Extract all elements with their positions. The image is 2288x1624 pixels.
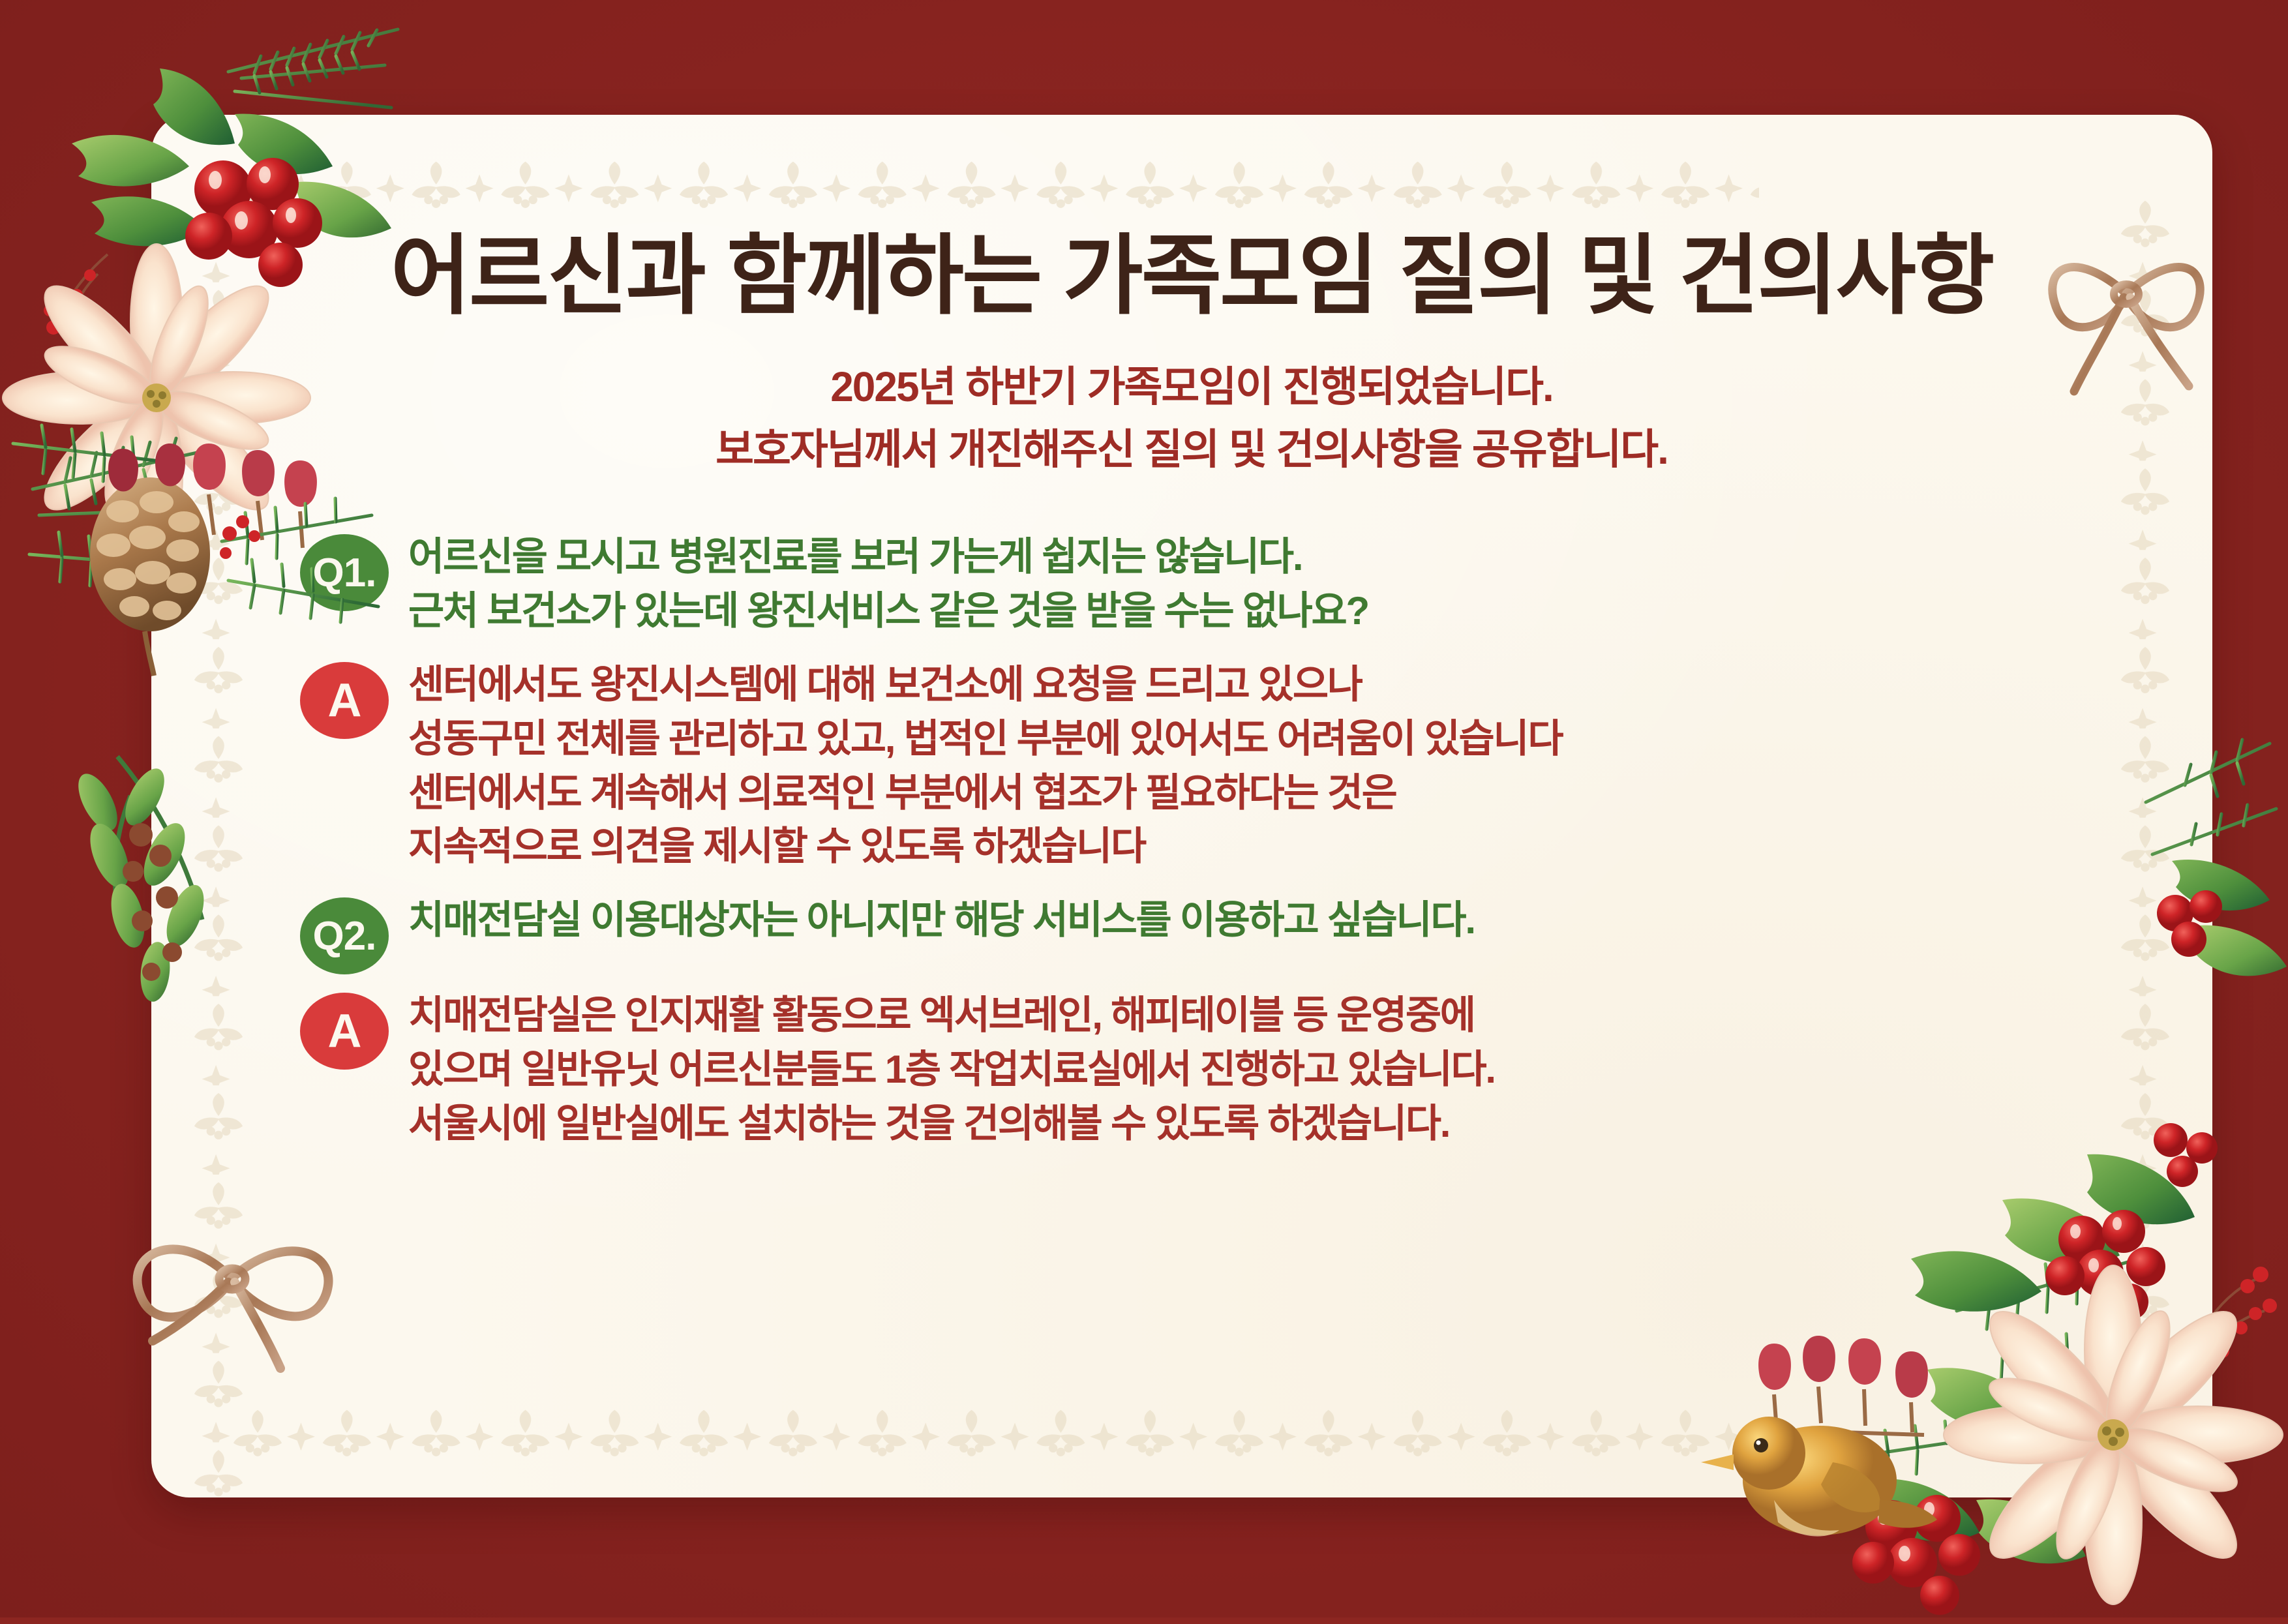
border-pattern-right <box>2117 193 2173 1497</box>
subtitle: 2025년 하반기 가족모임이 진행되었습니다. 보호자님께서 개진해주신 질의… <box>269 355 2115 481</box>
answer-text-a1: 센터에서도 왕진시스템에 대해 보건소에 요청을 드리고 있으나 성동구민 전체… <box>408 655 1562 874</box>
answer-line: 센터에서도 왕진시스템에 대해 보건소에 요청을 드리고 있으나 <box>408 658 1562 712</box>
answer-line: 치매전담실은 인지재활 활동으로 엑서브레인, 해피테이블 등 운영중에 <box>408 989 1495 1043</box>
answer-line: 지속적으로 의견을 제시할 수 있도록 하겠습니다 <box>408 820 1562 874</box>
qa-item-q2: Q2. 치매전담실 이용대상자는 아니지만 해당 서비스를 이용하고 싶습니다. <box>300 891 2115 974</box>
question-line: 치매전담실 이용대상자는 아니지만 해당 서비스를 이용하고 싶습니다. <box>408 894 1475 948</box>
border-pattern-bottom <box>230 1402 1759 1458</box>
answer-line: 성동구민 전체를 관리하고 있고, 법적인 부분에 있어서도 어려움이 있습니다 <box>408 712 1562 766</box>
answer-line: 센터에서도 계속해서 의료적인 부분에서 협조가 필요하다는 것은 <box>408 766 1562 820</box>
qa-item-a2: A 치매전담실은 인지재활 활동으로 엑서브레인, 해피테이블 등 운영중에 있… <box>300 986 2115 1150</box>
answer-line: 있으며 일반유닛 어르신분들도 1층 작업치료실에서 진행하고 있습니다. <box>408 1043 1495 1097</box>
card-content: 어르신과 함께하는 가족모임 질의 및 건의사항 2025년 하반기 가족모임이… <box>269 193 2115 1168</box>
question-badge-q1: Q1. <box>300 534 389 611</box>
question-text-q1: 어르신을 모시고 병원진료를 보러 가는게 쉽지는 않습니다. 근처 보건소가 … <box>408 528 1368 639</box>
border-pattern-left <box>190 193 247 1497</box>
subtitle-line-1: 2025년 하반기 가족모임이 진행되었습니다. <box>269 355 2115 418</box>
answer-badge-a1: A <box>300 662 389 739</box>
qa-item-a1: A 센터에서도 왕진시스템에 대해 보건소에 요청을 드리고 있으나 성동구민 … <box>300 655 2115 874</box>
question-line: 근처 보건소가 있는데 왕진서비스 같은 것을 받을 수는 없나요? <box>408 584 1368 639</box>
qa-item-q1: Q1. 어르신을 모시고 병원진료를 보러 가는게 쉽지는 않습니다. 근처 보… <box>300 528 2115 639</box>
answer-badge-a2: A <box>300 993 389 1070</box>
announcement-card: 어르신과 함께하는 가족모임 질의 및 건의사항 2025년 하반기 가족모임이… <box>151 115 2212 1497</box>
qa-list: Q1. 어르신을 모시고 병원진료를 보러 가는게 쉽지는 않습니다. 근처 보… <box>269 528 2115 1150</box>
page-title: 어르신과 함께하는 가족모임 질의 및 건의사항 <box>269 226 2115 327</box>
answer-text-a2: 치매전담실은 인지재활 활동으로 엑서브레인, 해피테이블 등 운영중에 있으며… <box>408 986 1495 1150</box>
subtitle-line-2: 보호자님께서 개진해주신 질의 및 건의사항을 공유합니다. <box>269 418 2115 481</box>
question-badge-q2: Q2. <box>300 897 389 974</box>
question-text-q2: 치매전담실 이용대상자는 아니지만 해당 서비스를 이용하고 싶습니다. <box>408 891 1475 948</box>
answer-line: 서울시에 일반실에도 설치하는 것을 건의해볼 수 있도록 하겠습니다. <box>408 1097 1495 1151</box>
question-line: 어르신을 모시고 병원진료를 보러 가는게 쉽지는 않습니다. <box>408 530 1368 584</box>
